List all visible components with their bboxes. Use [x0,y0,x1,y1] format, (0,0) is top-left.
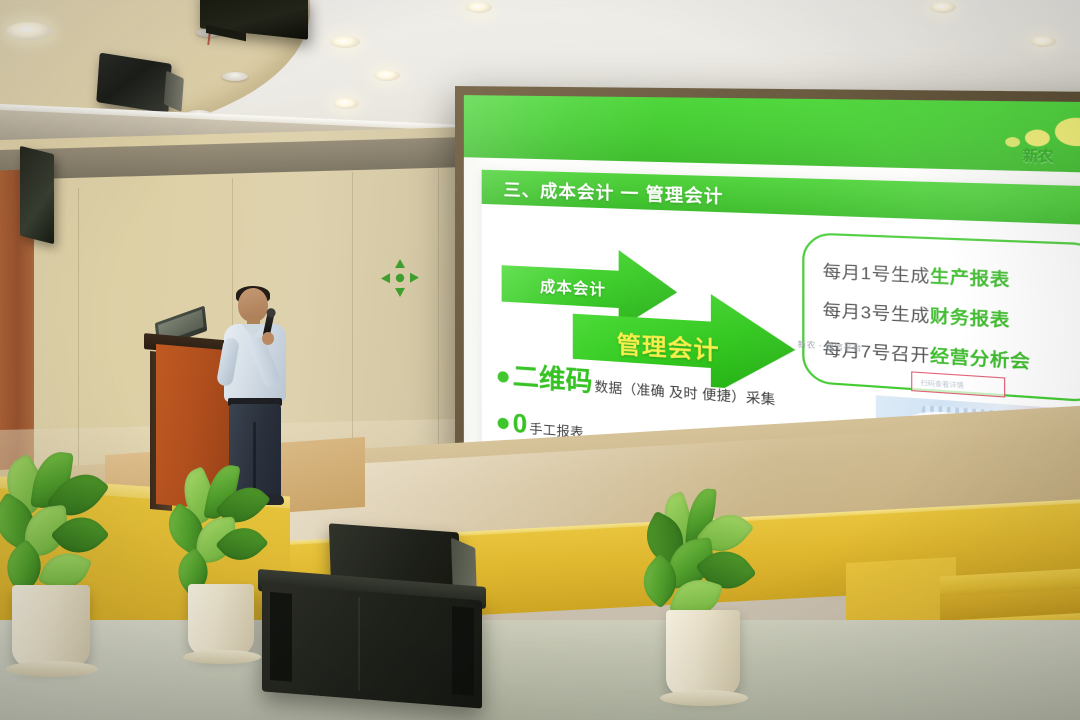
callout-line: 每月3号生成财务报表 [823,296,1080,336]
logo-dot-large [1055,117,1080,146]
plant-saucer [183,650,261,664]
downlight [466,2,492,13]
callout-prefix: 每月1号生成 [823,263,930,286]
wall-speaker [20,146,54,244]
plant-saucer [660,690,748,706]
arrow-label-cost-accounting: 成本会计 [540,275,606,300]
deck-brand-header: 新农 [464,95,1080,174]
logo-wordmark: 新农 [1023,144,1053,166]
plant-pot [666,610,740,696]
downlight [374,70,400,81]
subwoofer-seam [358,597,360,691]
potted-plant [0,455,120,685]
bullet-dot-icon [498,371,509,383]
wall-seam [438,166,439,466]
plant-pot [188,584,254,656]
wall-seam [352,172,353,472]
embedded-highlight-box: 扫码查看详情 [911,371,1005,397]
callout-emphasis: 财务报表 [930,308,1010,331]
potted-plant [640,492,770,718]
ceiling-projector [200,0,308,40]
presenter-head [238,288,268,322]
conference-hall-scene: 新农 三、成本会计 一 管理会计 [0,0,1080,720]
callout-emphasis: 生产报表 [930,268,1010,291]
arrow-label-management-accounting: 管理会计 [617,324,720,366]
subwoofer-grill [452,606,474,696]
bullet-keyword: 0 [513,407,528,440]
downlight [333,98,359,109]
downlight [1030,36,1056,47]
three-dots-logo: 新农 [1000,110,1080,164]
four-way-arrow-emblem [380,257,420,298]
bullet-detail: 数据（准确 及时 便捷）采集 [595,376,776,409]
downlight [330,36,360,48]
callout-line: 每月1号生成生产报表 [823,257,1080,295]
callout-prefix: 每月3号生成 [823,302,930,326]
downlight [6,22,52,40]
slide-title: 三、成本会计 一 管理会计 [504,175,724,208]
embedded-highlight-text: 扫码查看详情 [921,377,964,390]
plant-saucer [6,661,98,677]
bullet-keyword: 二维码 [513,356,593,399]
potted-plant [168,470,278,680]
plant-pot [12,585,90,667]
downlight [930,2,956,13]
floor-reflection [0,620,1080,720]
presenter-hand [262,332,274,345]
sprinkler-head [222,72,248,81]
bullet-dot-icon [498,417,509,429]
wall-seam [78,188,79,488]
floor-subwoofer [262,583,482,708]
logo-dot-small [1005,137,1020,147]
